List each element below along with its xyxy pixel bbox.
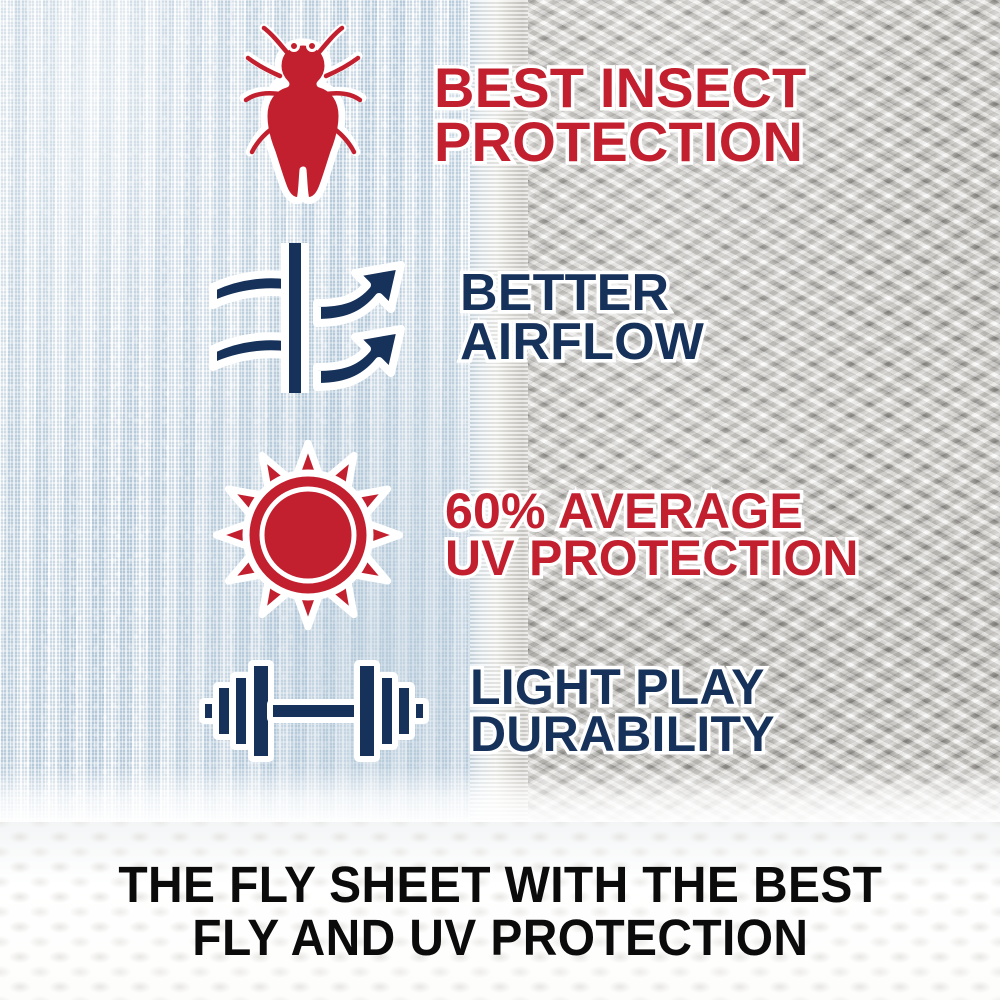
product-infographic: BEST INSECT PROTECTION BETTER AIRFLOW [0,0,1000,1000]
fly-icon [228,22,378,207]
caption-band: THE FLY SHEET WITH THE BEST FLY AND UV P… [0,822,1000,1000]
sun-icon [213,440,403,630]
feature-label-durability: LIGHT PLAY DURABILITY [470,664,775,759]
feature-label-uv: 60% AVERAGE UV PROTECTION [445,488,859,583]
feature-row-durability: LIGHT PLAY DURABILITY [198,655,775,767]
feature-row-insect: BEST INSECT PROTECTION [228,22,806,207]
photo-bottom-fade [0,766,1000,822]
dumbbell-icon [198,655,430,767]
feature-row-uv: 60% AVERAGE UV PROTECTION [213,440,859,630]
airflow-icon [205,243,420,393]
feature-label-insect: BEST INSECT PROTECTION [434,61,806,167]
feature-label-airflow: BETTER AIRFLOW [460,269,704,368]
caption-text: THE FLY SHEET WITH THE BEST FLY AND UV P… [118,858,882,964]
feature-row-airflow: BETTER AIRFLOW [205,243,704,393]
